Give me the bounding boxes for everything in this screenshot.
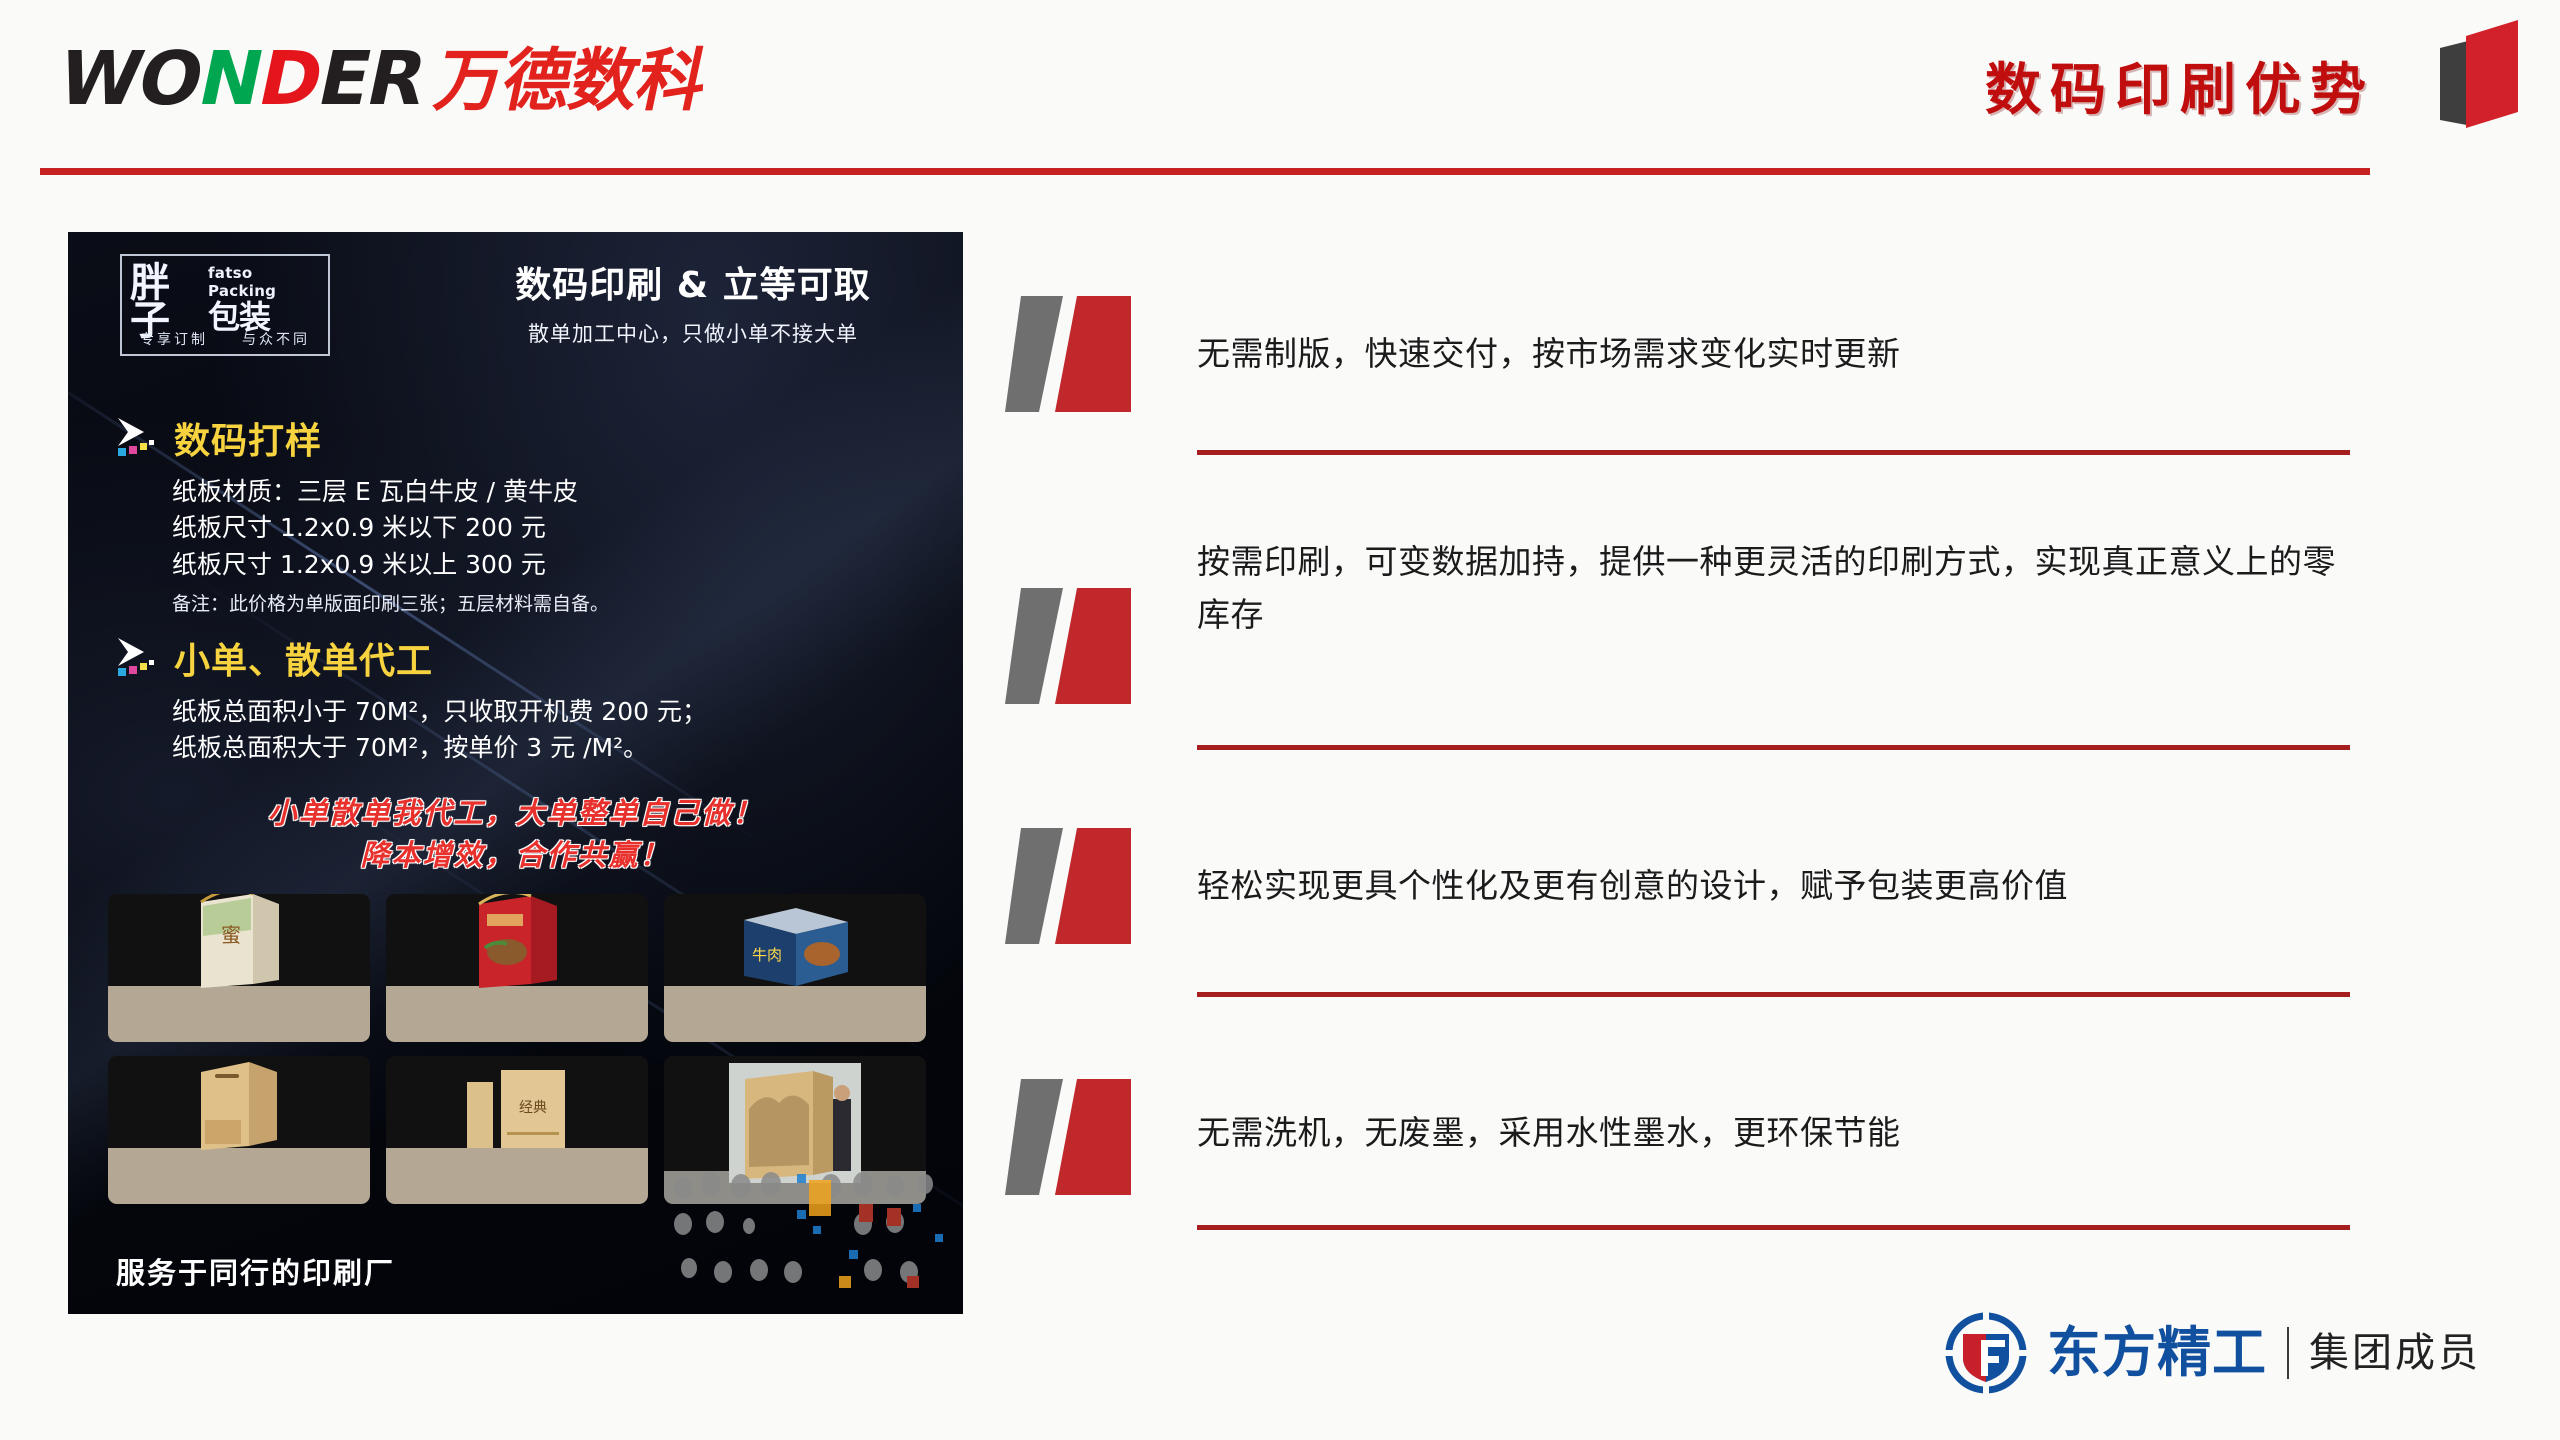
promo-poster-image: 胖子 fatso Packing 包装 专享订制 与众不同 数码印刷 & 立等可… <box>68 232 963 1314</box>
svg-text:经典: 经典 <box>519 1100 547 1116</box>
double-slash-marker-icon <box>1005 290 1180 425</box>
halftone-dot-pattern <box>663 1164 963 1314</box>
poster-headline: 数码印刷 & 立等可取 <box>458 256 928 308</box>
section-line: 纸板尺寸 1.2x0.9 米以下 200 元 <box>172 510 914 546</box>
advantage-text: 按需印刷，可变数据加持，提供一种更灵活的印刷方式，实现真正意义上的零库存 <box>1197 520 2350 656</box>
fatso-logo-en: fatso Packing <box>208 264 320 300</box>
fatso-tagline-left: 专享订制 <box>140 329 208 349</box>
page-title: 数码印刷优势 <box>1985 45 2375 126</box>
poster-photo-grid: 蜜 <box>108 894 926 1204</box>
product-photo-kraft-handle-box <box>108 1056 370 1204</box>
advantage-item-2: 按需印刷，可变数据加持，提供一种更灵活的印刷方式，实现真正意义上的零库存 <box>1005 520 2350 750</box>
section-line: 纸板总面积大于 70M²，按单价 3 元 /M²。 <box>172 730 914 766</box>
slogan-line: 降本增效，合作共赢！ <box>68 834 963 876</box>
advantage-text: 无需洗机，无废墨，采用水性墨水，更环保节能 <box>1197 1055 2350 1174</box>
svg-text:牛肉: 牛肉 <box>752 946 782 964</box>
cmyk-chevron-icon <box>114 636 160 680</box>
group-member-label: 集团成员 <box>2309 1333 2481 1373</box>
slogan-line: 小单散单我代工，大单整单自己做！ <box>68 792 963 834</box>
dongfang-shield-icon <box>1945 1312 2027 1394</box>
folded-sheet-icon <box>2426 8 2536 136</box>
poster-footer-text: 服务于同行的印刷厂 <box>116 1250 395 1292</box>
product-photo-classic-kraft-boxes: 经典 <box>386 1056 648 1204</box>
poster-slogan: 小单散单我代工，大单整单自己做！ 降本增效，合作共赢！ <box>68 792 963 876</box>
slide-root: WONDER 万德数科 数码印刷优势 胖子 fatso Packing 包装 <box>0 0 2560 1440</box>
section-title: 小单、散单代工 <box>174 632 433 684</box>
section-line: 纸板尺寸 1.2x0.9 米以上 300 元 <box>172 547 914 583</box>
red-box-shape <box>467 894 567 992</box>
fatso-tagline-right: 与众不同 <box>242 329 310 349</box>
advantage-text: 无需制版，快速交付，按市场需求变化实时更新 <box>1197 280 2350 395</box>
svg-text:蜜: 蜜 <box>221 923 241 947</box>
fatso-packing-logo: 胖子 fatso Packing 包装 专享订制 与众不同 <box>120 254 330 356</box>
wonder-chinese-name: 万德数科 <box>430 48 712 116</box>
honey-box-shape: 蜜 <box>191 894 287 992</box>
advantage-item-4: 无需洗机，无废墨，采用水性墨水，更环保节能 <box>1005 1055 2350 1230</box>
double-slash-marker-icon <box>1005 822 1180 957</box>
advantage-underline <box>1197 450 2350 455</box>
cmyk-chevron-icon <box>114 416 160 460</box>
header-divider <box>40 168 2370 175</box>
classic-boxes-shape: 经典 <box>457 1058 577 1154</box>
poster-headline-block: 数码印刷 & 立等可取 散单加工中心，只做小单不接大单 <box>458 256 928 348</box>
advantage-text: 轻松实现更具个性化及更有创意的设计，赋予包装更高价值 <box>1197 822 2350 927</box>
advantage-item-3: 轻松实现更具个性化及更有创意的设计，赋予包装更高价值 <box>1005 822 2350 997</box>
double-slash-marker-icon <box>1005 1073 1180 1208</box>
advantage-underline <box>1197 1225 2350 1230</box>
wonder-wordmark: WONDER <box>52 42 431 116</box>
poster-section-small-order-oem: 小单、散单代工 纸板总面积小于 70M²，只收取开机费 200 元； 纸板总面积… <box>114 632 914 767</box>
product-photo-beef-jerky-box: 牛肉 <box>664 894 926 1042</box>
advantages-list: 无需制版，快速交付，按市场需求变化实时更新 按需印刷，可变数据加持，提供一种更灵… <box>1005 280 2350 1230</box>
section-note: 备注：此价格为单版面印刷三张；五层材料需自备。 <box>172 589 914 616</box>
product-photo-red-chicken-gift-box <box>386 894 648 1042</box>
section-line: 纸板材质：三层 E 瓦白牛皮 / 黄牛皮 <box>172 474 914 510</box>
slide-header: WONDER 万德数科 数码印刷优势 <box>0 0 2560 175</box>
advantage-underline <box>1197 992 2350 997</box>
double-slash-marker-icon <box>1005 582 1180 717</box>
dongfang-group-logo: 东方精工 集团成员 <box>1945 1312 2481 1394</box>
product-photo-honey-gift-box: 蜜 <box>108 894 370 1042</box>
poster-section-digital-proofing: 数码打样 纸板材质：三层 E 瓦白牛皮 / 黄牛皮 纸板尺寸 1.2x0.9 米… <box>114 412 914 616</box>
advantage-item-1: 无需制版，快速交付，按市场需求变化实时更新 <box>1005 280 2350 455</box>
dongfang-name: 东方精工 <box>2047 1326 2267 1380</box>
poster-subheadline: 散单加工中心，只做小单不接大单 <box>458 318 928 348</box>
kraft-box-shape <box>187 1056 291 1154</box>
logo-divider <box>2287 1327 2289 1379</box>
blue-box-shape: 牛肉 <box>736 896 854 992</box>
section-line: 纸板总面积小于 70M²，只收取开机费 200 元； <box>172 694 914 730</box>
advantage-underline <box>1197 745 2350 750</box>
wonder-brand-logo: WONDER 万德数科 <box>52 42 713 116</box>
section-title: 数码打样 <box>174 412 322 464</box>
